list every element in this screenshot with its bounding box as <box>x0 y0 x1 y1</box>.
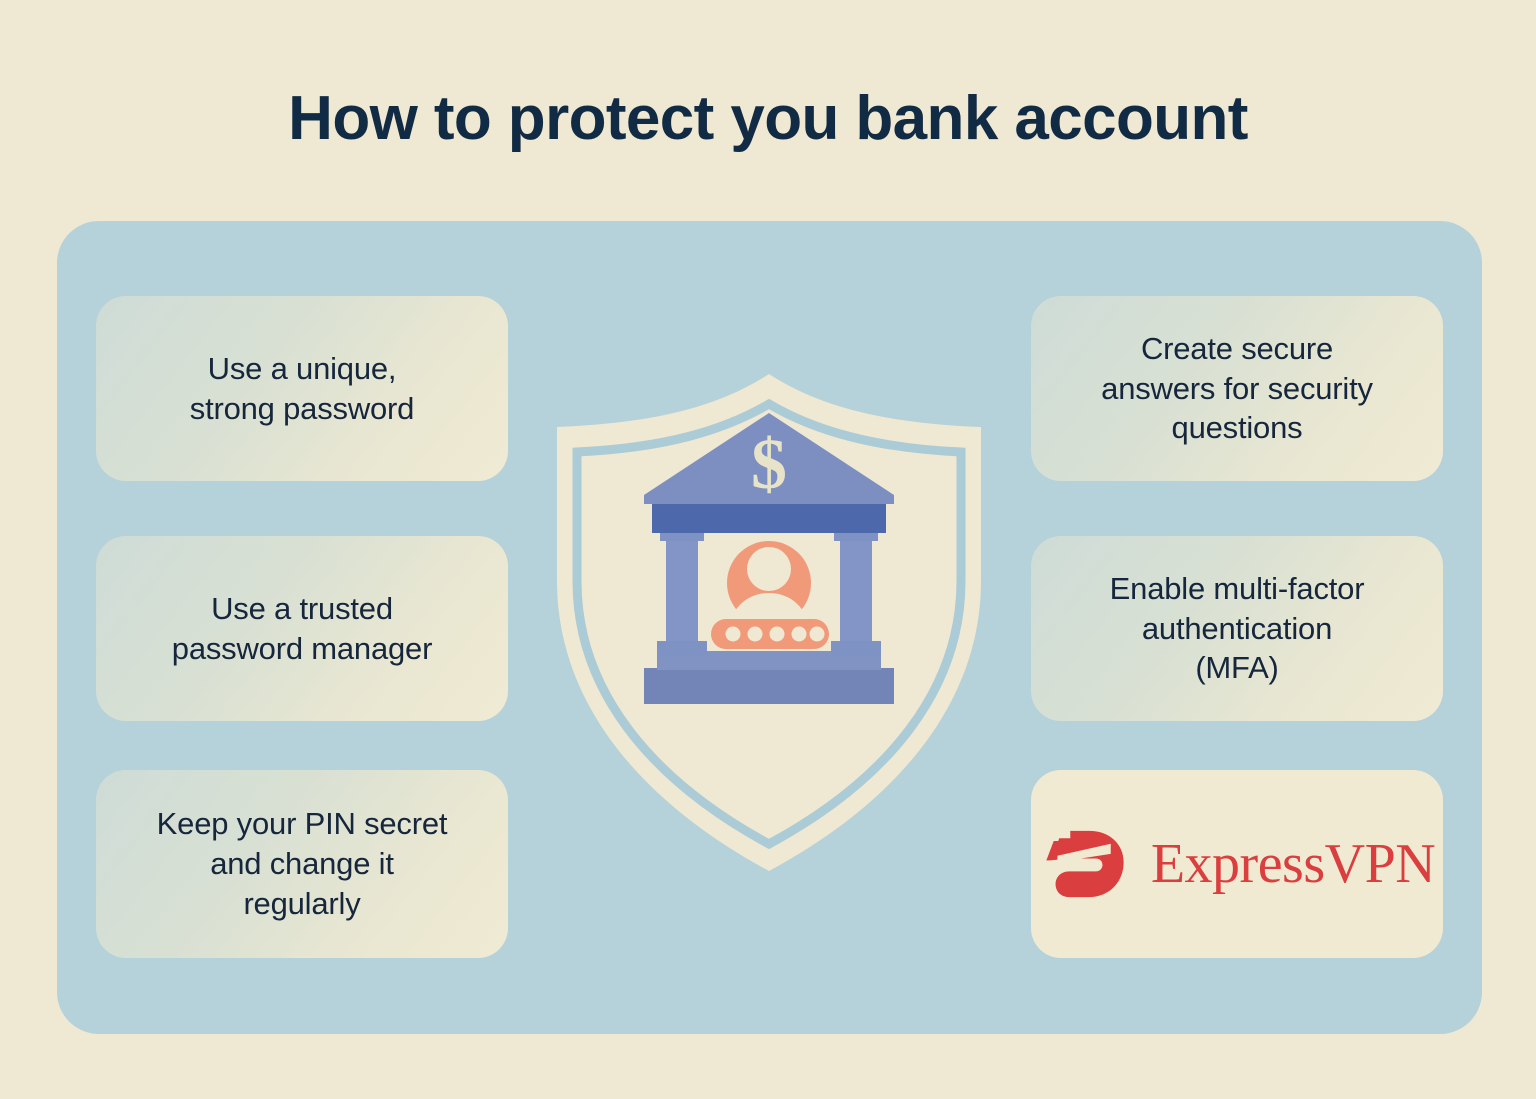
expressvpn-e-mark-icon <box>1039 818 1131 910</box>
tip-card-keep-pin-secret: Keep your PIN secretand change itregular… <box>96 770 508 958</box>
shield-with-bank-icon: $ <box>549 371 989 874</box>
tip-card-label: Use a trustedpassword manager <box>172 589 432 668</box>
tip-card-label: Keep your PIN secretand change itregular… <box>157 804 448 923</box>
tip-card-secure-security-answers: Create secureanswers for securityquestio… <box>1031 296 1443 481</box>
dollar-sign-icon: $ <box>751 424 787 504</box>
tip-card-label: Enable multi-factorauthentication(MFA) <box>1110 569 1365 688</box>
user-avatar-icon <box>727 541 811 631</box>
tip-card-label: Create secureanswers for securityquestio… <box>1101 329 1373 448</box>
page-title: How to protect you bank account <box>0 86 1536 151</box>
expressvpn-wordmark: ExpressVPN <box>1151 836 1435 892</box>
tip-card-trusted-password-manager: Use a trustedpassword manager <box>96 536 508 721</box>
password-dots-icon <box>711 619 829 649</box>
bank-base-step <box>644 668 894 704</box>
tip-card-unique-strong-password: Use a unique,strong password <box>96 296 508 481</box>
brand-logo-card: ExpressVPN <box>1031 770 1443 958</box>
tip-card-enable-mfa: Enable multi-factorauthentication(MFA) <box>1031 536 1443 721</box>
expressvpn-logo: ExpressVPN <box>1039 818 1435 910</box>
bank-lintel <box>652 502 886 533</box>
tip-card-label: Use a unique,strong password <box>190 349 414 428</box>
